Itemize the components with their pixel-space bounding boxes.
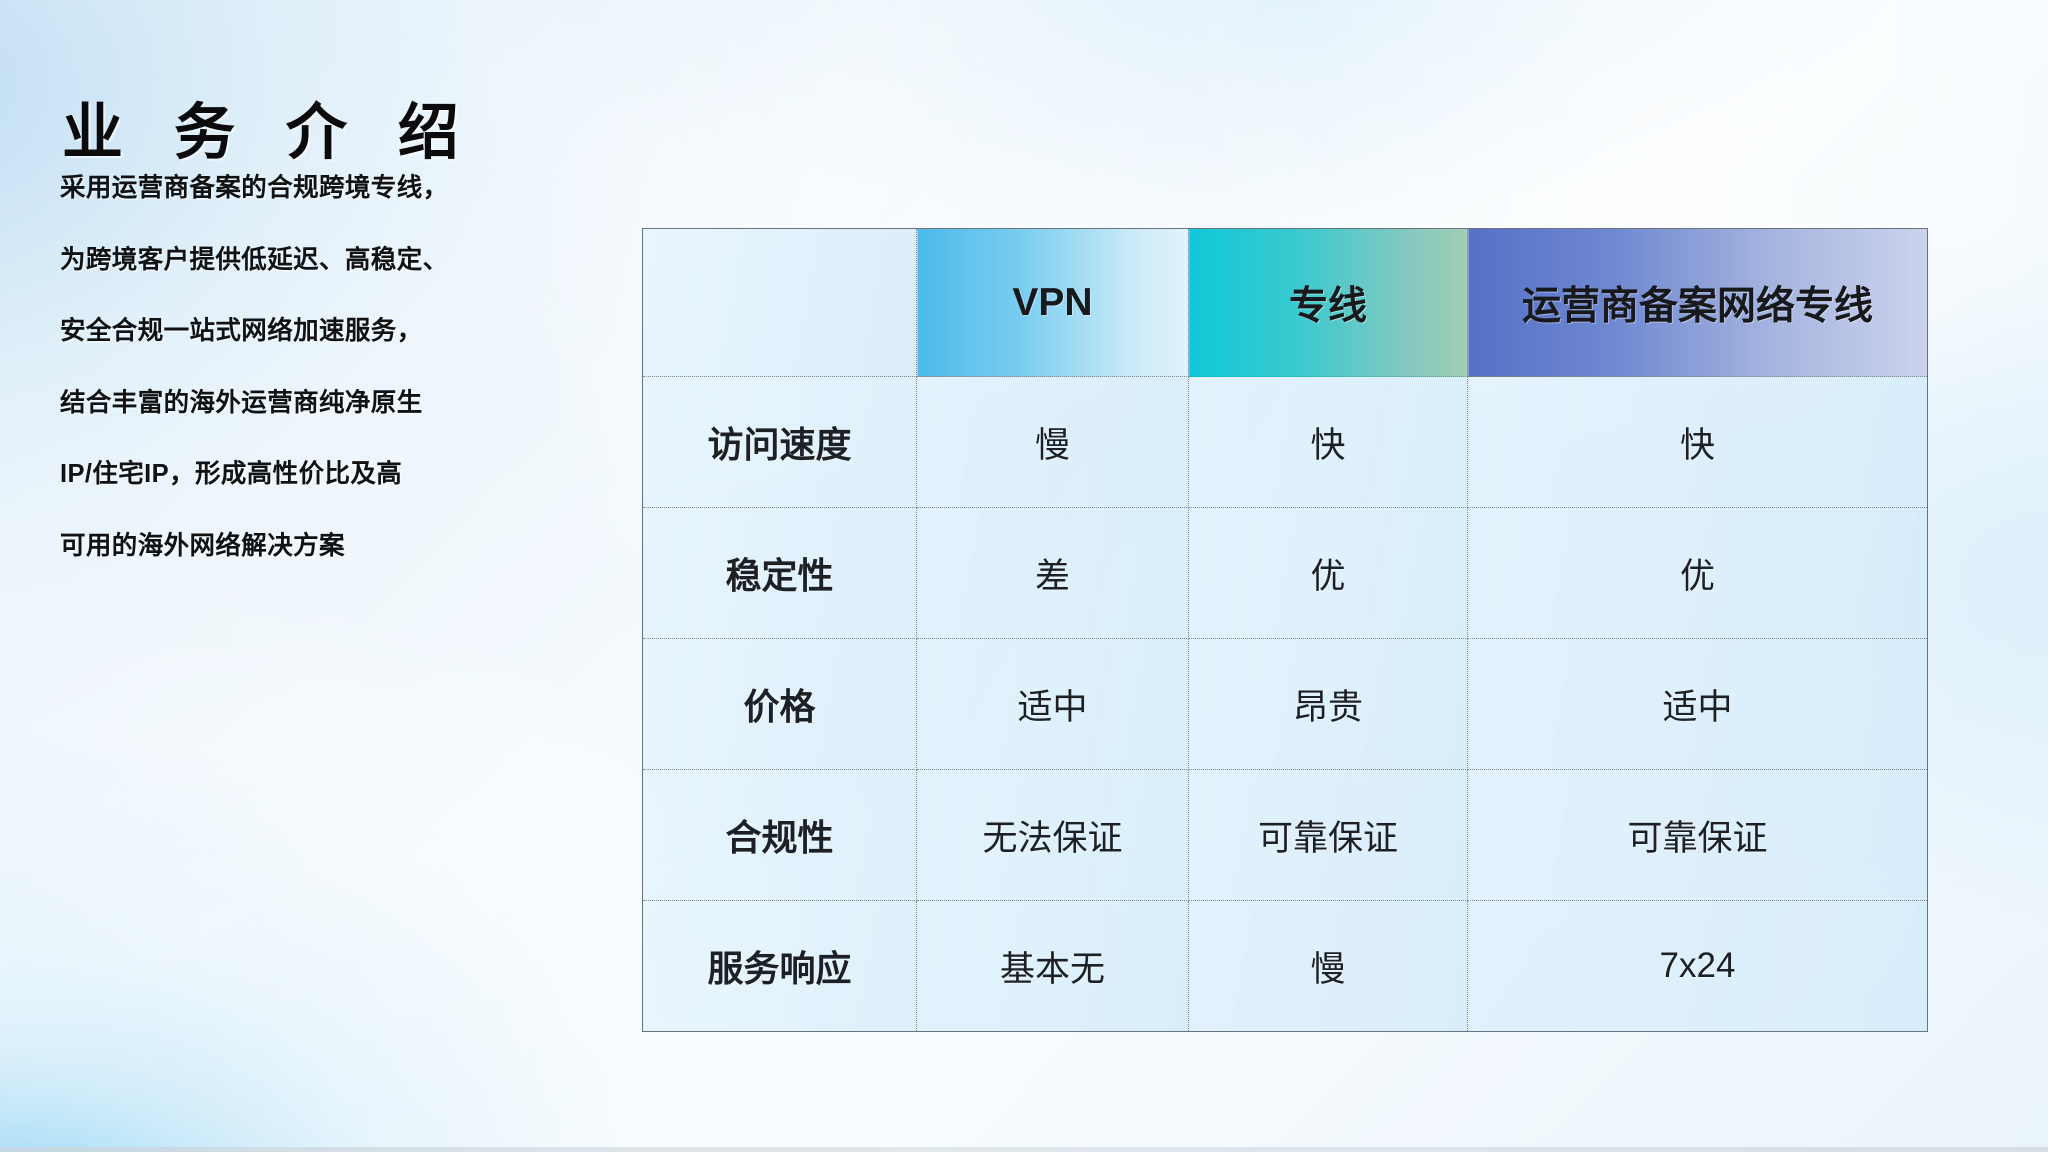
background-light-sweep: [0, 545, 697, 1152]
row-label: 合规性: [643, 770, 917, 901]
cell-carrier: 快: [1468, 377, 1928, 508]
slide-canvas: 业 务 介 绍 采用运营商备案的合规跨境专线， 为跨境客户提供低延迟、高稳定、 …: [0, 0, 2048, 1152]
cell-line: 优: [1189, 508, 1468, 639]
intro-line: 采用运营商备案的合规跨境专线，: [60, 176, 490, 202]
table-row: 合规性 无法保证 可靠保证 可靠保证: [643, 770, 1928, 901]
cell-vpn: 基本无: [917, 901, 1189, 1032]
table-header-vpn: VPN: [917, 229, 1189, 377]
intro-line: 可用的海外网络解决方案: [60, 534, 490, 560]
cell-carrier: 优: [1468, 508, 1928, 639]
table-body: 访问速度 慢 快 快 稳定性 差 优 优 价格 适中 昂贵 适中 合规性 无法保…: [643, 377, 1928, 1032]
cell-carrier: 适中: [1468, 639, 1928, 770]
intro-paragraph: 采用运营商备案的合规跨境专线， 为跨境客户提供低延迟、高稳定、 安全合规一站式网…: [60, 176, 490, 559]
cell-vpn: 适中: [917, 639, 1189, 770]
cell-vpn: 无法保证: [917, 770, 1189, 901]
slide-bottom-edge: [0, 1147, 2048, 1152]
table-header-line: 专线: [1189, 229, 1468, 377]
page-title: 业 务 介 绍: [62, 97, 476, 169]
cell-line: 昂贵: [1189, 639, 1468, 770]
intro-line: 结合丰富的海外运营商纯净原生: [60, 391, 490, 417]
table-header-row: VPN 专线 运营商备案网络专线: [643, 229, 1928, 377]
row-label: 服务响应: [643, 901, 917, 1032]
cell-vpn: 慢: [917, 377, 1189, 508]
cell-line: 可靠保证: [1189, 770, 1468, 901]
cell-line: 快: [1189, 377, 1468, 508]
table-header-carrier: 运营商备案网络专线: [1468, 229, 1928, 377]
table-row: 稳定性 差 优 优: [643, 508, 1928, 639]
row-label: 访问速度: [643, 377, 917, 508]
table-row: 访问速度 慢 快 快: [643, 377, 1928, 508]
table-row: 服务响应 基本无 慢 7x24: [643, 901, 1928, 1032]
intro-line: IP/住宅IP，形成高性价比及高: [60, 462, 490, 488]
comparison-table: VPN 专线 运营商备案网络专线 访问速度 慢 快 快 稳定性 差 优 优 价格…: [642, 228, 1928, 1032]
table-row: 价格 适中 昂贵 适中: [643, 639, 1928, 770]
cell-carrier: 7x24: [1468, 901, 1928, 1032]
intro-line: 安全合规一站式网络加速服务，: [60, 319, 490, 345]
cell-vpn: 差: [917, 508, 1189, 639]
table-header: VPN 专线 运营商备案网络专线: [643, 229, 1928, 377]
cell-carrier: 可靠保证: [1468, 770, 1928, 901]
cell-line: 慢: [1189, 901, 1468, 1032]
row-label: 价格: [643, 639, 917, 770]
row-label: 稳定性: [643, 508, 917, 639]
intro-line: 为跨境客户提供低延迟、高稳定、: [60, 248, 490, 274]
table-header-blank: [643, 229, 917, 377]
